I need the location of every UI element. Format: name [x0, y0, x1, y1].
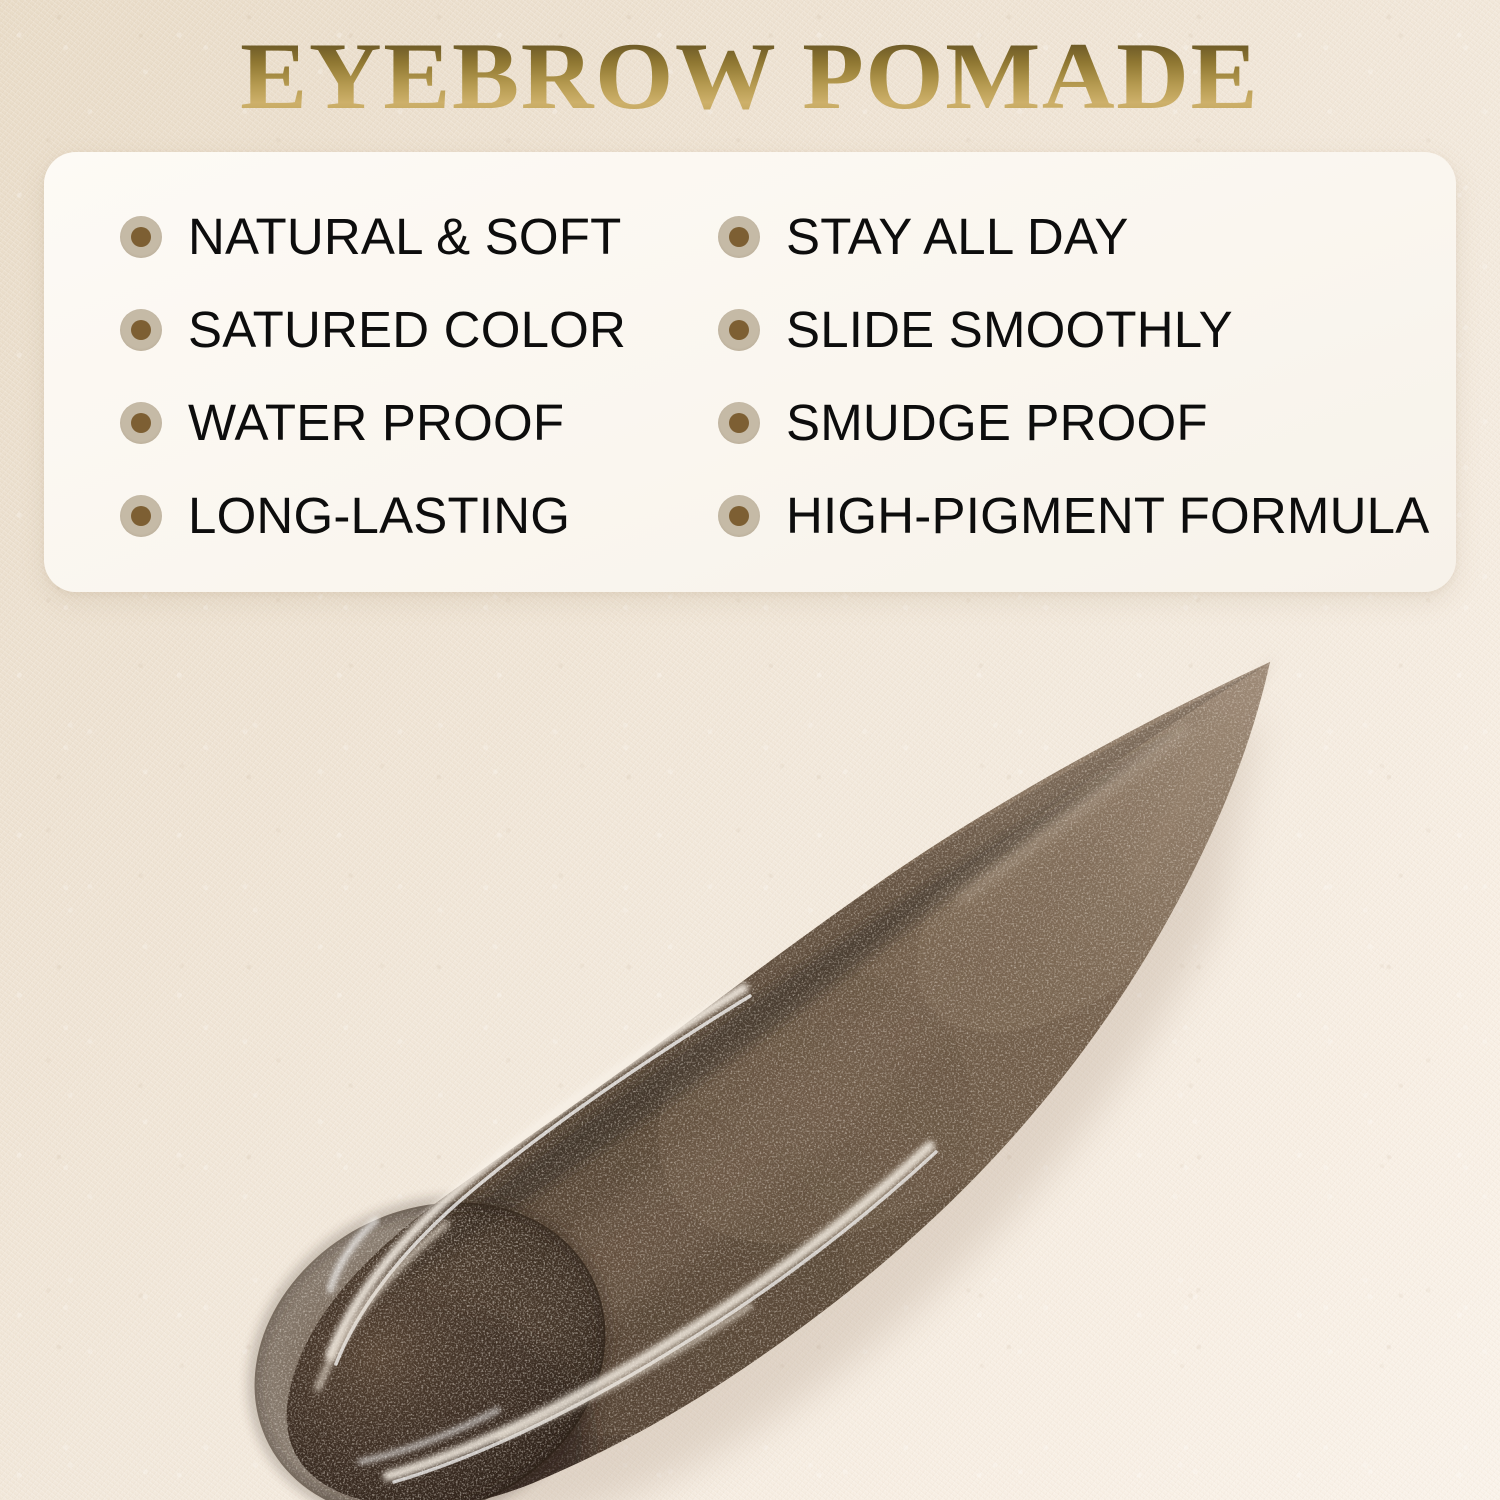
feature-label: LONG-LASTING	[188, 486, 570, 545]
feature-item-water-proof: WATER PROOF	[120, 393, 718, 452]
bullet-point-icon	[120, 402, 162, 444]
feature-item-natural-soft: NATURAL & SOFT	[120, 207, 718, 266]
feature-item-slide-smoothly: SLIDE SMOOTHLY	[718, 300, 1430, 359]
bullet-point-icon	[120, 495, 162, 537]
feature-item-smudge-proof: SMUDGE PROOF	[718, 393, 1430, 452]
eyebrow-pomade-swatch-image	[0, 600, 1500, 1500]
feature-label: NATURAL & SOFT	[188, 207, 622, 266]
feature-label: WATER PROOF	[188, 393, 564, 452]
product-marketing-image: EYEBROW POMADE NATURAL & SOFT STAY ALL D…	[0, 0, 1500, 1500]
feature-label: SLIDE SMOOTHLY	[786, 300, 1233, 359]
feature-label: SATURED COLOR	[188, 300, 626, 359]
feature-item-long-lasting: LONG-LASTING	[120, 486, 718, 545]
bullet-point-icon	[718, 402, 760, 444]
bullet-point-icon	[120, 216, 162, 258]
feature-item-stay-all-day: STAY ALL DAY	[718, 207, 1430, 266]
page-title-container: EYEBROW POMADE	[0, 26, 1500, 127]
bullet-point-icon	[718, 216, 760, 258]
feature-list-card: NATURAL & SOFT STAY ALL DAY SATURED COLO…	[44, 152, 1456, 592]
feature-grid: NATURAL & SOFT STAY ALL DAY SATURED COLO…	[44, 152, 1456, 592]
bullet-point-icon	[718, 309, 760, 351]
bullet-point-icon	[120, 309, 162, 351]
bullet-point-icon	[718, 495, 760, 537]
feature-label: STAY ALL DAY	[786, 207, 1129, 266]
feature-label: HIGH-PIGMENT FORMULA	[786, 486, 1429, 545]
feature-item-high-pigment-formula: HIGH-PIGMENT FORMULA	[718, 486, 1430, 545]
product-swatch-container	[0, 600, 1500, 1500]
feature-item-satured-color: SATURED COLOR	[120, 300, 718, 359]
feature-label: SMUDGE PROOF	[786, 393, 1208, 452]
page-title: EYEBROW POMADE	[240, 26, 1259, 127]
